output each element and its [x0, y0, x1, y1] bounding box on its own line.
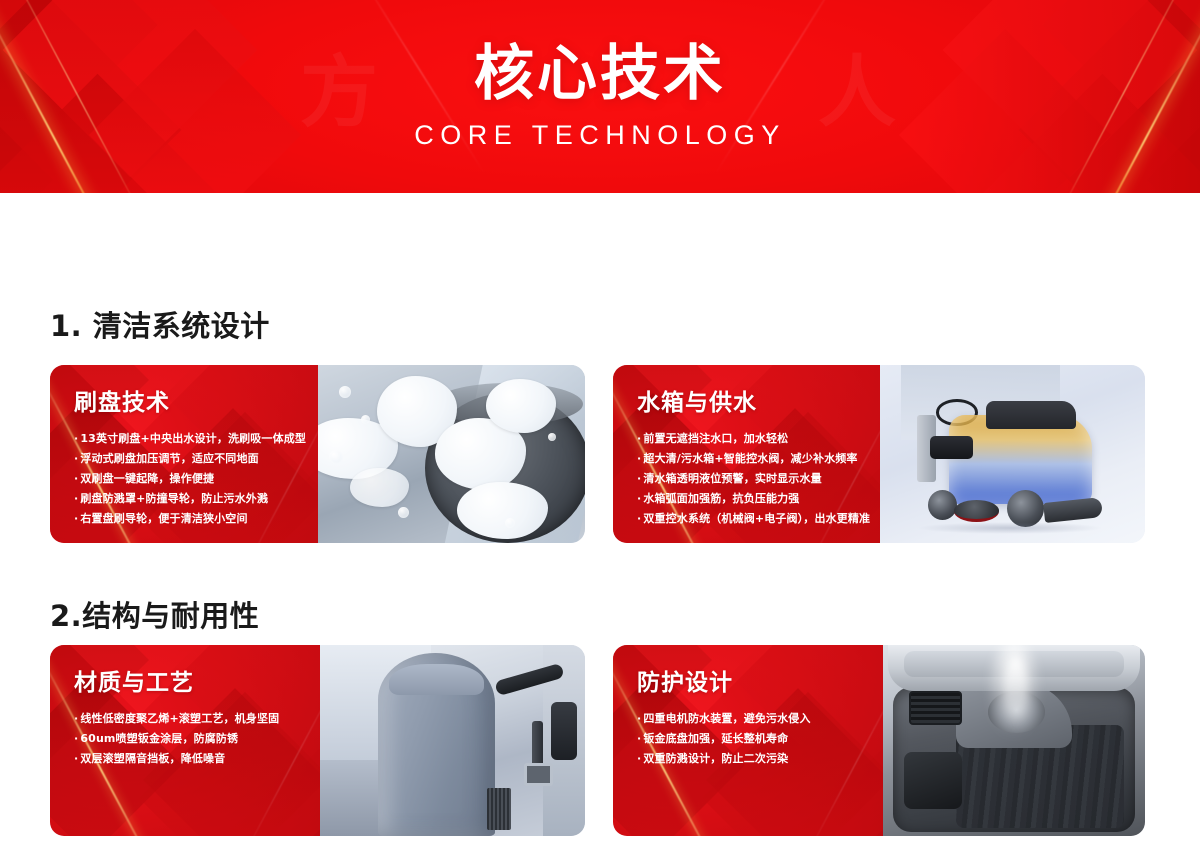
photo-bubble	[548, 433, 556, 441]
banner-subtitle: CORE TECHNOLOGY	[414, 120, 786, 151]
photo-wheel-front	[928, 490, 957, 520]
card-title: 材质与工艺	[74, 663, 302, 697]
banner-text-group: 核心技术 CORE TECHNOLOGY	[0, 0, 1200, 193]
bullet-item: 双刷盘一键起降，操作便捷	[74, 469, 300, 489]
content-area: 1. 清洁系统设计 刷盘技术 13英寸刷盘+中央出水设计，洗刷吸一体成型 浮动式…	[0, 193, 1200, 855]
photo-control-box	[904, 752, 962, 809]
photo-vent-grille	[909, 691, 961, 725]
brush-disc-foam-photo	[318, 365, 585, 543]
feature-card-material-process[interactable]: 材质与工艺 线性低密度聚乙烯+滚塑工艺，机身坚固 60um喷塑钣金涂层，防腐防锈…	[50, 645, 585, 836]
photo-strip	[487, 788, 511, 830]
section-heading-2: 2.结构与耐用性	[50, 593, 259, 635]
bullet-item: 60um喷塑钣金涂层，防腐防锈	[74, 729, 302, 749]
photo-shadow	[917, 522, 1103, 534]
card-title: 水箱与供水	[637, 383, 862, 417]
bullet-item: 前置无遮挡注水口，加水轻松	[637, 429, 862, 449]
photo-foam	[486, 379, 555, 432]
card-red-panel: 水箱与供水 前置无遮挡注水口，加水轻松 超大清/污水箱+智能控水阀，减少补水频率…	[613, 365, 880, 543]
bullet-item: 右置盘刷导轮，便于清洁狭小空间	[74, 509, 300, 529]
bullet-item: 13英寸刷盘+中央出水设计，洗刷吸一体成型	[74, 429, 300, 449]
photo-brush-head	[954, 500, 999, 521]
photo-buckle	[524, 763, 553, 786]
photo-bubble	[505, 518, 515, 528]
card-bullet-list: 线性低密度聚乙烯+滚塑工艺，机身坚固 60um喷塑钣金涂层，防腐防锈 双层滚塑隔…	[74, 709, 302, 769]
bullet-item: 刷盘防溅罩+防撞导轮，防止污水外溅	[74, 489, 300, 509]
bullet-item: 超大清/污水箱+智能控水阀，减少补水频率	[637, 449, 862, 469]
bullet-item: 清水箱透明液位预警，实时显示水量	[637, 469, 862, 489]
bullet-item: 浮动式刷盘加压调节，适应不同地面	[74, 449, 300, 469]
photo-steam-core	[1004, 656, 1028, 725]
card-bullet-list: 四重电机防水装置，避免污水侵入 钣金底盘加强，延长整机寿命 双重防溅设计，防止二…	[637, 709, 865, 769]
bullet-item: 双重防溅设计，防止二次污染	[637, 749, 865, 769]
bullet-item: 水箱弧面加强筋，抗负压能力强	[637, 489, 862, 509]
page-banner: 方 人 核心技术 CORE TECHNOLOGY	[0, 0, 1200, 193]
card-red-panel: 材质与工艺 线性低密度聚乙烯+滚塑工艺，机身坚固 60um喷塑钣金涂层，防腐防锈…	[50, 645, 320, 836]
photo-bubble	[361, 415, 370, 424]
photo-bubble	[339, 386, 351, 398]
photo-handle-grip	[551, 702, 578, 759]
motor-compartment-photo	[883, 645, 1145, 836]
card-bullet-list: 前置无遮挡注水口，加水轻松 超大清/污水箱+智能控水阀，减少补水频率 清水箱透明…	[637, 429, 862, 529]
feature-card-water-tank[interactable]: 水箱与供水 前置无遮挡注水口，加水轻松 超大清/污水箱+智能控水阀，减少补水频率…	[613, 365, 1145, 543]
photo-squeegee	[1043, 497, 1103, 523]
photo-bubble	[398, 507, 409, 518]
card-bullet-list: 13英寸刷盘+中央出水设计，洗刷吸一体成型 浮动式刷盘加压调节，适应不同地面 双…	[74, 429, 300, 529]
banner-title: 核心技术	[474, 43, 726, 106]
machine-chassis-photo	[320, 645, 585, 836]
feature-card-protection-design[interactable]: 防护设计 四重电机防水装置，避免污水侵入 钣金底盘加强，延长整机寿命 双重防溅设…	[613, 645, 1145, 836]
bullet-item: 线性低密度聚乙烯+滚塑工艺，机身坚固	[74, 709, 302, 729]
feature-card-brush-technology[interactable]: 刷盘技术 13英寸刷盘+中央出水设计，洗刷吸一体成型 浮动式刷盘加压调节，适应不…	[50, 365, 585, 543]
transparent-scrubber-photo	[880, 365, 1145, 543]
bullet-item: 双层滚塑隔音挡板，降低噪音	[74, 749, 302, 769]
bullet-item: 钣金底盘加强，延长整机寿命	[637, 729, 865, 749]
photo-foam	[350, 468, 409, 507]
photo-tank-top	[986, 401, 1076, 429]
photo-chassis-lid	[389, 664, 484, 695]
photo-seat	[930, 436, 972, 459]
bullet-item: 四重电机防水装置，避免污水侵入	[637, 709, 865, 729]
section-heading-1: 1. 清洁系统设计	[50, 303, 270, 345]
card-red-panel: 刷盘技术 13英寸刷盘+中央出水设计，洗刷吸一体成型 浮动式刷盘加压调节，适应不…	[50, 365, 318, 543]
card-title: 防护设计	[637, 663, 865, 697]
bullet-item: 双重控水系统（机械阀+电子阀），出水更精准	[637, 509, 862, 529]
card-title: 刷盘技术	[74, 383, 300, 417]
card-red-panel: 防护设计 四重电机防水装置，避免污水侵入 钣金底盘加强，延长整机寿命 双重防溅设…	[613, 645, 883, 836]
